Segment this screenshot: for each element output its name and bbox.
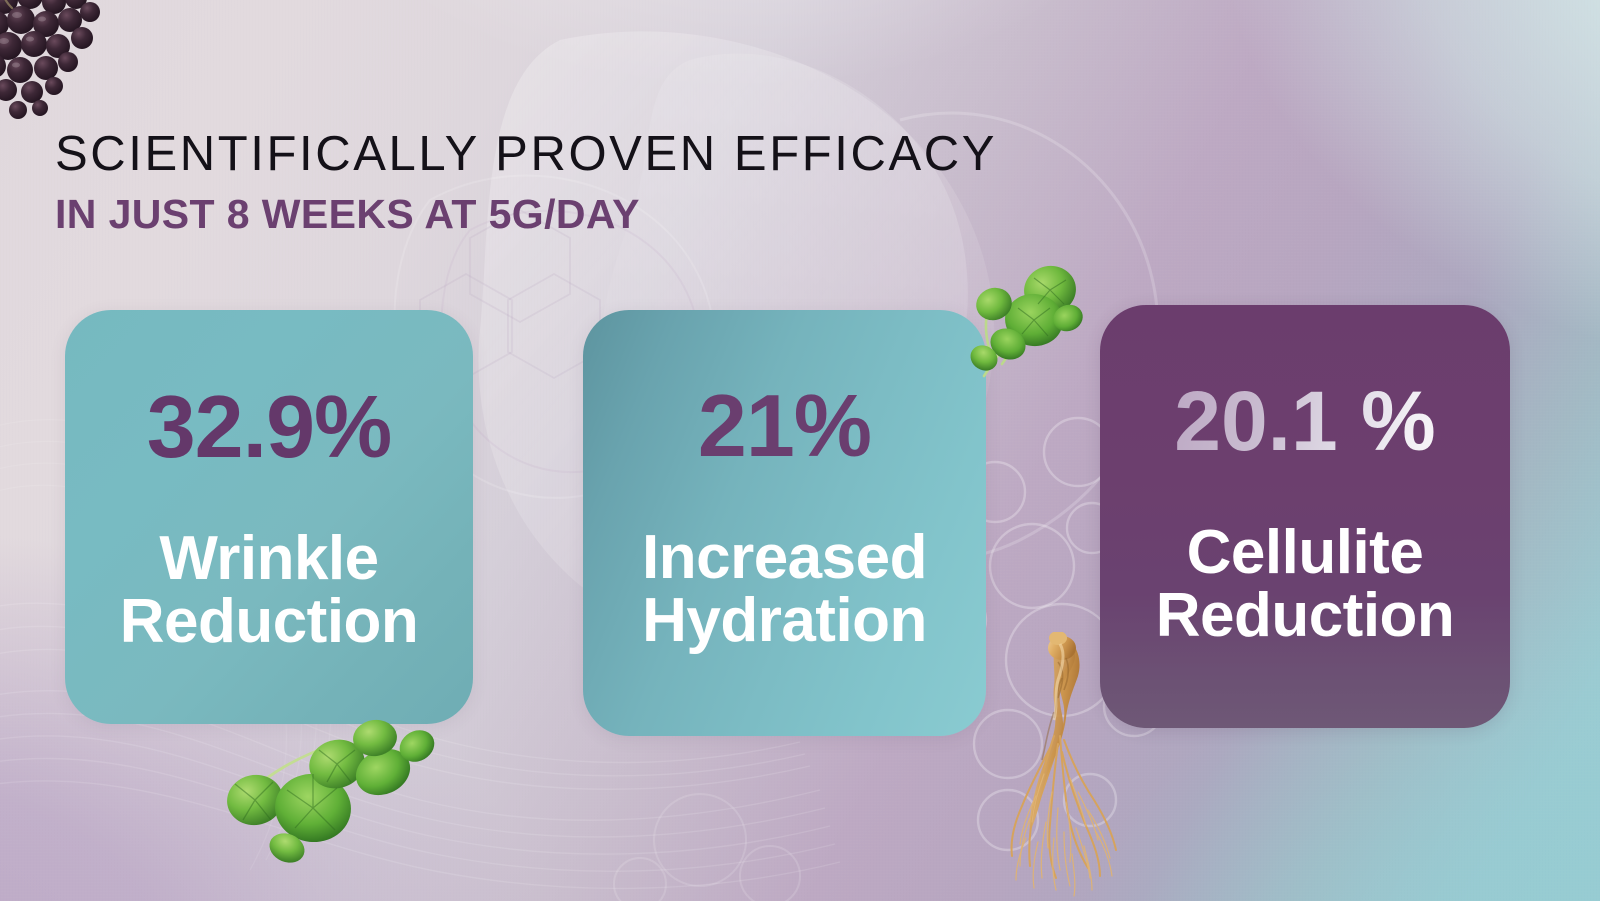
stat-card-wrinkle: 32.9% Wrinkle Reduction [65, 310, 473, 724]
stat-label-hydration: Increased Hydration [642, 526, 927, 652]
stat-value-cellulite: 20.1 % [1174, 379, 1436, 463]
headline-secondary: IN JUST 8 WEEKS AT 5G/DAY [55, 192, 997, 236]
headline-primary: SCIENTIFICALLY PROVEN EFFICACY [55, 128, 997, 181]
stat-label-line1: Wrinkle [120, 527, 419, 590]
stat-label-line2: Reduction [1156, 584, 1455, 647]
stat-card-hydration: 21% Increased Hydration [583, 310, 986, 736]
stat-value-wrinkle: 32.9% [147, 383, 392, 471]
infographic-canvas: SCIENTIFICALLY PROVEN EFFICACY IN JUST 8… [0, 0, 1600, 901]
stat-label-line2: Reduction [120, 590, 419, 653]
stat-card-cellulite: 20.1 % Cellulite Reduction [1100, 305, 1510, 728]
stat-label-line1: Increased [642, 526, 927, 589]
headline-block: SCIENTIFICALLY PROVEN EFFICACY IN JUST 8… [55, 128, 997, 236]
stat-label-cellulite: Cellulite Reduction [1156, 521, 1455, 647]
stat-label-line1: Cellulite [1156, 521, 1455, 584]
stat-value-hydration: 21% [698, 382, 871, 470]
stat-label-line2: Hydration [642, 589, 927, 652]
stat-label-wrinkle: Wrinkle Reduction [120, 527, 419, 653]
grape-cluster-icon [0, 0, 136, 140]
centella-leaf-icon [225, 716, 435, 871]
